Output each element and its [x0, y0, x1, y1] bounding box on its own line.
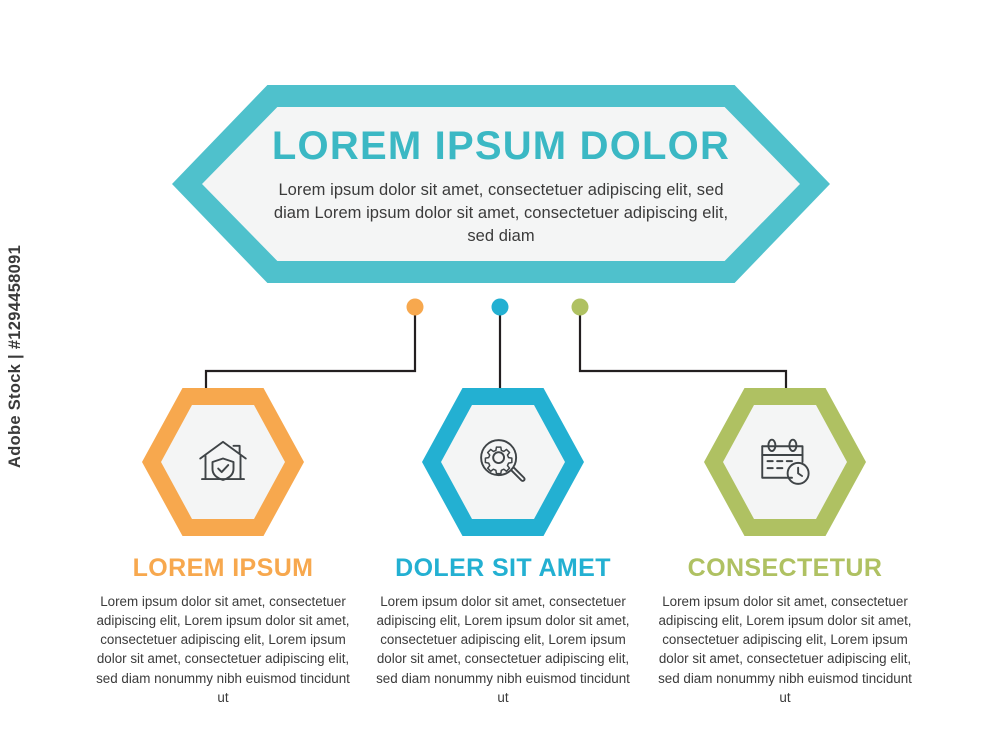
connector-diagram: [0, 285, 1000, 405]
page-subtitle: Lorem ipsum dolor sit amet, consectetuer…: [267, 179, 735, 247]
connector-dot-orange: [407, 299, 424, 316]
house-shield-icon: [195, 434, 251, 490]
connector-dot-green: [572, 299, 589, 316]
banner-content: LOREM IPSUM DOLOR Lorem ipsum dolor sit …: [267, 125, 735, 248]
page-title: LOREM IPSUM DOLOR: [267, 125, 735, 167]
infographic-canvas: Adobe Stock | #1294458091 LOREM IPSUM DO…: [0, 0, 1000, 750]
hexagon-badge-1[interactable]: [142, 388, 304, 536]
connector-line-right: [580, 311, 786, 390]
hexagon-badge-3[interactable]: [704, 388, 866, 536]
hexagon-badge-2[interactable]: [422, 388, 584, 536]
column-1-body: Lorem ipsum dolor sit amet, consectetuer…: [94, 592, 352, 707]
column-3-title: CONSECTETUR: [625, 554, 945, 583]
magnifier-gear-icon: [475, 434, 531, 490]
column-1-title: LOREM IPSUM: [63, 554, 383, 583]
column-1[interactable]: LOREM IPSUM Lorem ipsum dolor sit amet, …: [63, 388, 383, 707]
connector-line-left: [206, 311, 415, 390]
connector-dot-teal: [492, 299, 509, 316]
column-3-body: Lorem ipsum dolor sit amet, consectetuer…: [656, 592, 914, 707]
column-2-body: Lorem ipsum dolor sit amet, consectetuer…: [374, 592, 632, 707]
column-2[interactable]: DOLER SIT AMET Lorem ipsum dolor sit ame…: [343, 388, 663, 707]
calendar-clock-icon: [757, 434, 813, 490]
column-2-title: DOLER SIT AMET: [343, 554, 663, 583]
column-3[interactable]: CONSECTETUR Lorem ipsum dolor sit amet, …: [625, 388, 945, 707]
header-banner: LOREM IPSUM DOLOR Lorem ipsum dolor sit …: [172, 85, 830, 283]
